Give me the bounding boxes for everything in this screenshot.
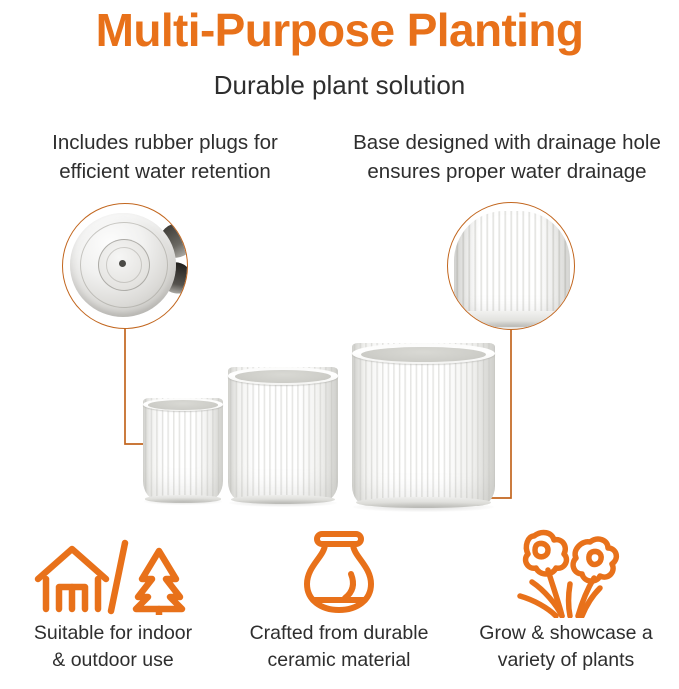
benefit-ceramic-material: Crafted from durable ceramic material	[226, 524, 452, 674]
benefit-caption: Suitable for indoor & outdoor use	[0, 620, 226, 674]
infographic-page: Multi-Purpose Planting Durable plant sol…	[0, 0, 679, 689]
pot-base-ribbed-body	[454, 211, 570, 323]
callout-caption-line-2: ensures proper water drainage	[335, 157, 679, 186]
pot-body	[228, 367, 338, 502]
callout-caption-line-1: Base designed with drainage hole	[335, 128, 679, 157]
page-subtitle: Durable plant solution	[0, 68, 679, 102]
callout-caption-line-1: Includes rubber plugs for	[0, 128, 330, 157]
benefit-caption: Grow & showcase a variety of plants	[453, 620, 679, 674]
pot-body	[143, 398, 223, 501]
vase-icon	[226, 524, 452, 620]
zoom-circle-rubber-plug	[62, 203, 188, 329]
rubber-plug-illustration	[63, 204, 187, 328]
pot-ground-shadow	[353, 502, 493, 512]
page-title: Multi-Purpose Planting	[0, 2, 679, 58]
callout-caption-rubber-plugs: Includes rubber plugs for efficient wate…	[0, 128, 330, 186]
flowers-icon	[453, 524, 679, 620]
benefit-variety-of-plants: Grow & showcase a variety of plants	[453, 524, 679, 674]
pot-base-shadow	[460, 321, 564, 330]
callout-caption-line-2: efficient water retention	[0, 157, 330, 186]
product-pot-medium	[228, 367, 338, 502]
pot-interior	[361, 347, 487, 362]
benefit-caption-line-2: & outdoor use	[0, 647, 226, 674]
pot-interior	[235, 370, 332, 383]
benefit-caption-line-1: Crafted from durable	[226, 620, 452, 647]
pot-ground-shadow	[229, 499, 337, 507]
pot-interior	[148, 400, 218, 410]
benefit-indoor-outdoor: Suitable for indoor & outdoor use	[0, 524, 226, 674]
product-pot-large	[352, 343, 495, 506]
pot-base-illustration	[448, 203, 574, 329]
benefit-caption-line-1: Suitable for indoor	[0, 620, 226, 647]
house-slash-tree-icon	[0, 524, 226, 620]
pot-ground-shadow	[144, 498, 222, 504]
benefit-caption-line-2: ceramic material	[226, 647, 452, 674]
product-pot-small	[143, 398, 223, 501]
zoom-circle-drainage-base	[447, 202, 575, 330]
plug-center-dot	[119, 260, 126, 267]
callout-caption-drainage-hole: Base designed with drainage hole ensures…	[335, 128, 679, 186]
benefit-caption: Crafted from durable ceramic material	[226, 620, 452, 674]
benefit-caption-line-1: Grow & showcase a	[453, 620, 679, 647]
benefit-caption-line-2: variety of plants	[453, 647, 679, 674]
pot-body	[352, 343, 495, 506]
